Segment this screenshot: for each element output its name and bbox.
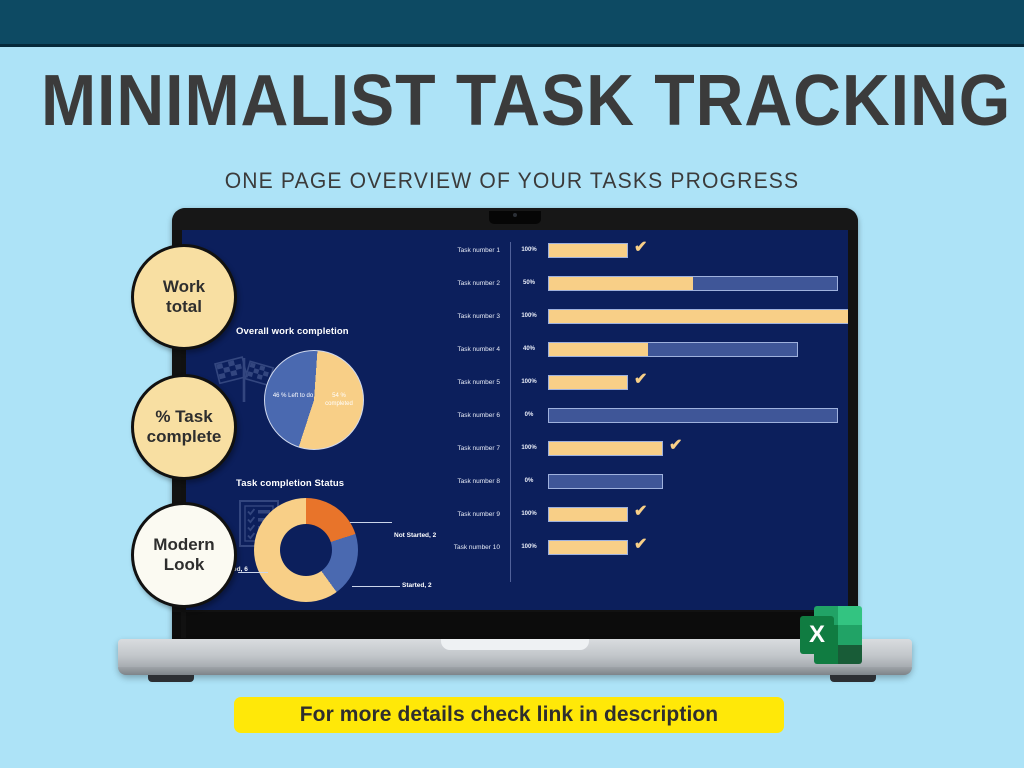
badge-task-complete: % Task complete bbox=[131, 374, 237, 480]
badge-modern-look-line2: Look bbox=[164, 555, 205, 574]
task-row: Task number 5100%✔ bbox=[418, 370, 848, 403]
task-row: Task number 7100%✔ bbox=[418, 436, 848, 469]
overall-completion-pie-chart: 46 % Left to do 54 % completed bbox=[264, 350, 364, 450]
laptop-bezel bbox=[172, 208, 858, 230]
task-done-check-icon: ✔ bbox=[634, 537, 647, 553]
pie-label-left: 46 % Left to do bbox=[270, 392, 316, 400]
task-row: Task number 250% bbox=[418, 271, 848, 304]
donut-chart-title: Task completion Status bbox=[236, 478, 344, 489]
task-percent-label: 100% bbox=[516, 445, 542, 451]
badge-work-total-line1: Work bbox=[163, 277, 205, 296]
task-label: Task number 8 bbox=[418, 478, 500, 485]
task-progress-fill bbox=[549, 376, 627, 389]
task-row: Task number 10100%✔ bbox=[418, 535, 848, 568]
laptop-base bbox=[118, 639, 912, 675]
badge-task-complete-line2: complete bbox=[147, 427, 222, 446]
task-progress-fill bbox=[549, 508, 627, 521]
laptop-lid: Overall work completion bbox=[172, 208, 858, 640]
task-progress-track bbox=[548, 309, 848, 324]
cta-banner[interactable]: For more details check link in descripti… bbox=[234, 697, 784, 733]
task-percent-label: 100% bbox=[516, 511, 542, 517]
task-progress-fill bbox=[549, 442, 662, 455]
task-progress-track bbox=[548, 276, 838, 291]
laptop-base-notch bbox=[441, 639, 589, 650]
task-percent-label: 100% bbox=[516, 247, 542, 253]
task-status-donut-chart: Not Started, 2 Started, 2 ...leted, 6 bbox=[254, 498, 358, 602]
charts-panel: Overall work completion bbox=[222, 240, 432, 600]
task-label: Task number 3 bbox=[418, 313, 500, 320]
task-label: Task number 4 bbox=[418, 346, 500, 353]
task-progress-panel: Task number 1100%✔Task number 250%Task n… bbox=[418, 238, 848, 604]
task-row: Task number 80% bbox=[418, 469, 848, 502]
task-progress-track bbox=[548, 375, 628, 390]
task-percent-label: 40% bbox=[516, 346, 542, 352]
badge-work-total: Work total bbox=[131, 244, 237, 350]
task-progress-track bbox=[548, 507, 628, 522]
task-list: Task number 1100%✔Task number 250%Task n… bbox=[418, 238, 848, 568]
task-progress-track bbox=[548, 342, 798, 357]
microsoft-excel-icon: X bbox=[800, 604, 862, 666]
task-percent-label: 0% bbox=[516, 412, 542, 418]
laptop-foot-right bbox=[830, 675, 876, 682]
task-progress-track bbox=[548, 243, 628, 258]
task-label: Task number 1 bbox=[418, 247, 500, 254]
laptop-base-edge bbox=[118, 667, 912, 675]
badge-modern-look: Modern Look bbox=[131, 502, 237, 608]
task-progress-track bbox=[548, 540, 628, 555]
task-row: Task number 9100%✔ bbox=[418, 502, 848, 535]
task-done-check-icon: ✔ bbox=[669, 438, 682, 454]
task-label: Task number 9 bbox=[418, 511, 500, 518]
task-progress-fill bbox=[549, 343, 648, 356]
task-progress-track bbox=[548, 441, 663, 456]
task-row: Task number 3100% bbox=[418, 304, 848, 337]
pie-chart-title: Overall work completion bbox=[236, 326, 349, 337]
donut-hole bbox=[280, 524, 332, 576]
task-progress-track bbox=[548, 474, 663, 489]
task-label: Task number 5 bbox=[418, 379, 500, 386]
task-percent-label: 100% bbox=[516, 379, 542, 385]
task-label: Task number 10 bbox=[418, 544, 500, 551]
task-row: Task number 60% bbox=[418, 403, 848, 436]
task-done-check-icon: ✔ bbox=[634, 240, 647, 256]
excel-x-glyph: X bbox=[800, 616, 834, 654]
task-progress-fill bbox=[549, 310, 848, 323]
task-percent-label: 50% bbox=[516, 280, 542, 286]
task-progress-track bbox=[548, 408, 838, 423]
task-done-check-icon: ✔ bbox=[634, 504, 647, 520]
donut-leader-line-started bbox=[352, 586, 400, 587]
task-row: Task number 1100%✔ bbox=[418, 238, 848, 271]
task-done-check-icon: ✔ bbox=[634, 372, 647, 388]
task-percent-label: 0% bbox=[516, 478, 542, 484]
task-percent-label: 100% bbox=[516, 544, 542, 550]
task-label: Task number 6 bbox=[418, 412, 500, 419]
task-label: Task number 7 bbox=[418, 445, 500, 452]
camera-icon bbox=[513, 213, 517, 217]
task-row: Task number 440% bbox=[418, 337, 848, 370]
donut-leader-line-notstarted bbox=[350, 522, 392, 523]
laptop-screen: Overall work completion bbox=[182, 230, 848, 610]
task-percent-label: 100% bbox=[516, 313, 542, 319]
task-progress-fill bbox=[549, 244, 627, 257]
badge-task-complete-line1: % Task bbox=[155, 407, 212, 426]
laptop-chin bbox=[172, 612, 858, 640]
laptop-foot-left bbox=[148, 675, 194, 682]
badge-modern-look-line1: Modern bbox=[153, 535, 214, 554]
task-progress-fill bbox=[549, 541, 627, 554]
pie-label-right: 54 % completed bbox=[318, 392, 360, 408]
task-label: Task number 2 bbox=[418, 280, 500, 287]
task-progress-fill bbox=[549, 277, 693, 290]
badge-work-total-line2: total bbox=[166, 297, 202, 316]
